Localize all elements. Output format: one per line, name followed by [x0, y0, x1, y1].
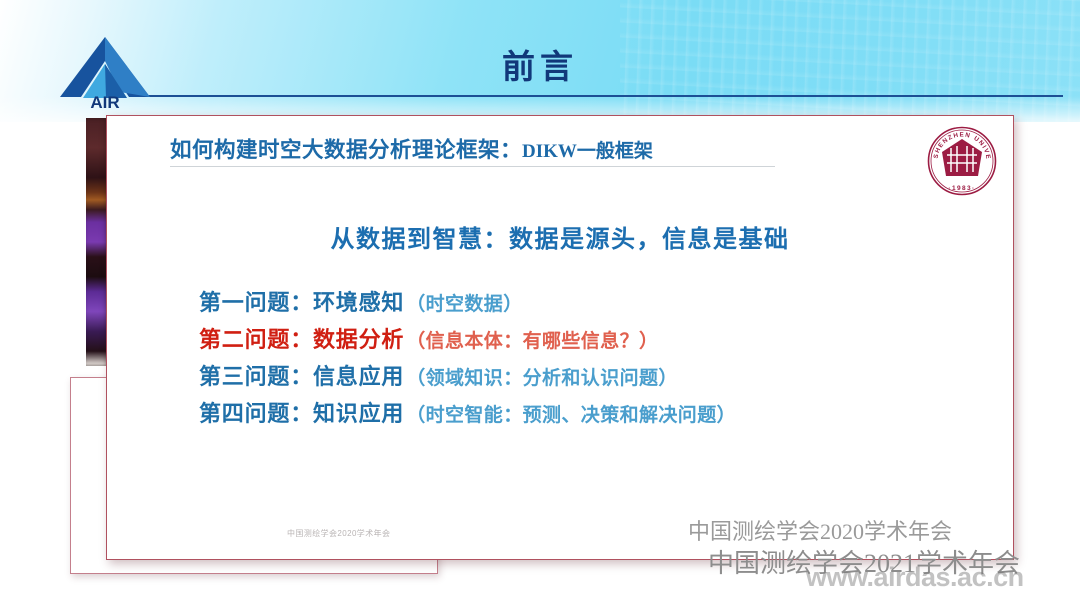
question-1-note: （时空数据）	[406, 294, 522, 315]
slide-title: 如何构建时空大数据分析理论框架：DIKW一般框架	[170, 133, 653, 164]
question-3-note: （领域知识：分析和认识问题）	[406, 368, 678, 389]
question-3-label: 第三问题：信息应用	[199, 364, 404, 389]
slide-title-main: 如何构建时空大数据分析理论框架：	[170, 138, 522, 162]
slide-footnote: 中国测绘学会2020学术年会	[287, 528, 390, 539]
presentation-screen: AIR 前言 SHENZHEN UNIVERSITY	[0, 0, 1080, 607]
question-row-3: 第三问题：信息应用（领域知识：分析和认识问题）	[199, 358, 989, 395]
question-row-2: 第二问题：数据分析（信息本体：有哪些信息？）	[199, 321, 989, 358]
question-row-1: 第一问题：环境感知（时空数据）	[199, 284, 989, 321]
question-row-4: 第四问题：知识应用（时空智能：预测、决策和解决问题）	[199, 395, 989, 432]
slide-title-divider	[170, 166, 775, 167]
slide-title-sub: DIKW一般框架	[522, 141, 653, 162]
background-media-strip	[86, 118, 108, 366]
header-divider	[133, 95, 1063, 97]
slide-heading: 从数据到智慧：数据是源头，信息是基础	[107, 219, 1013, 254]
question-4-label: 第四问题：知识应用	[199, 401, 404, 426]
question-2-note: （信息本体：有哪些信息？）	[406, 331, 658, 352]
question-2-label: 第二问题：数据分析	[199, 327, 404, 352]
seal-year: ·1983·	[948, 185, 975, 192]
question-4-note: （时空智能：预测、决策和解决问题）	[406, 405, 736, 426]
air-logo: AIR	[57, 34, 153, 116]
site-watermark: www.airdas.ac.cn	[806, 562, 1024, 593]
page-title: 前言	[0, 40, 1080, 88]
question-1-label: 第一问题：环境感知	[199, 290, 404, 315]
conference-label-2020: 中国测绘学会2020学术年会	[688, 514, 952, 546]
shenzhen-university-seal-icon: SHENZHEN UNIVERSITY ·1983·	[925, 124, 999, 198]
question-list: 第一问题：环境感知（时空数据） 第二问题：数据分析（信息本体：有哪些信息？） 第…	[199, 284, 989, 432]
slide-main[interactable]: SHENZHEN UNIVERSITY ·1983· 如何构建时空大数据分析理论…	[106, 115, 1014, 560]
air-logo-text: AIR	[90, 93, 119, 112]
